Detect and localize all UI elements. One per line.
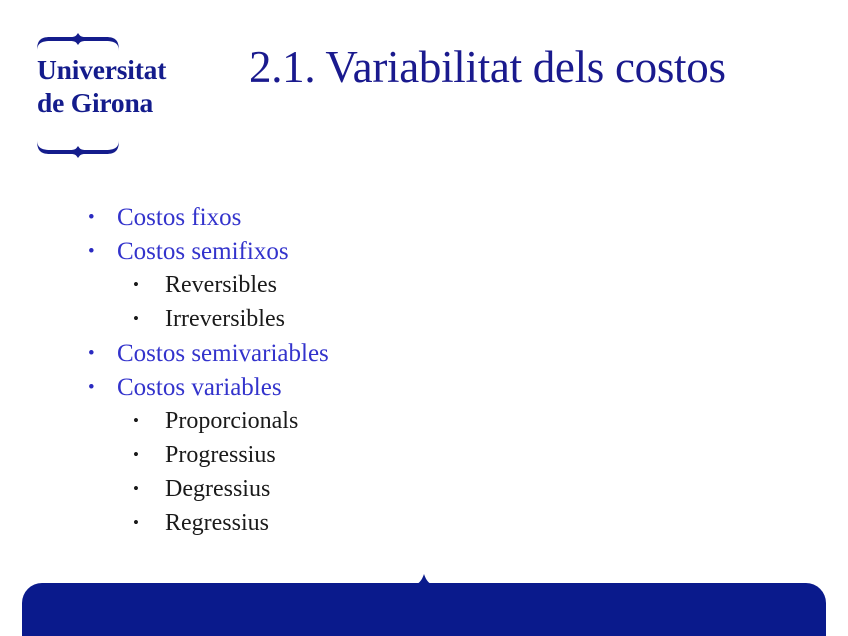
list-item: • Regressius — [88, 510, 788, 544]
list-item: • Degressius — [88, 476, 788, 510]
slide-title: 2.1. Variabilitat dels costos — [249, 40, 726, 94]
list-item-label: Reversibles — [165, 272, 277, 299]
list-item-label: Degressius — [165, 476, 270, 503]
list-item: • Costos semifixos — [88, 238, 788, 272]
list-item: • Irreversibles — [88, 306, 788, 340]
list-item-label: Costos fixos — [117, 204, 241, 232]
logo-text: Universitat de Girona — [37, 53, 166, 119]
university-logo: Universitat de Girona — [36, 33, 216, 158]
bullet-icon: • — [133, 446, 165, 463]
list-item: • Progressius — [88, 442, 788, 476]
list-item-label: Regressius — [165, 510, 269, 537]
logo-top-brace-icon — [36, 33, 120, 55]
bullet-icon: • — [133, 514, 165, 531]
logo-bottom-brace-icon — [36, 134, 120, 158]
list-item: • Reversibles — [88, 272, 788, 306]
list-item-label: Irreversibles — [165, 306, 285, 333]
list-item: • Costos variables — [88, 374, 788, 408]
list-item: • Costos fixos — [88, 204, 788, 238]
bullet-icon: • — [133, 412, 165, 429]
list-item: • Proporcionals — [88, 408, 788, 442]
bullet-icon: • — [88, 344, 117, 363]
list-item-label: Costos semivariables — [117, 340, 329, 368]
bullet-icon: • — [133, 310, 165, 327]
bullet-icon: • — [88, 378, 117, 397]
bullet-icon: • — [133, 276, 165, 293]
list-item-label: Costos variables — [117, 374, 282, 402]
bottom-bar — [22, 583, 826, 636]
slide: Universitat de Girona 2.1. Variabilitat … — [0, 0, 848, 636]
bottom-bar-peak-icon — [411, 574, 437, 585]
bullet-list: • Costos fixos • Costos semifixos • Reve… — [88, 204, 788, 544]
list-item-label: Costos semifixos — [117, 238, 289, 266]
list-item-label: Progressius — [165, 442, 276, 469]
list-item-label: Proporcionals — [165, 408, 298, 435]
logo-line-2: de Girona — [37, 86, 166, 119]
bullet-icon: • — [133, 480, 165, 497]
list-item: • Costos semivariables — [88, 340, 788, 374]
bullet-icon: • — [88, 208, 117, 227]
bullet-icon: • — [88, 242, 117, 261]
logo-line-1: Universitat — [37, 53, 166, 86]
